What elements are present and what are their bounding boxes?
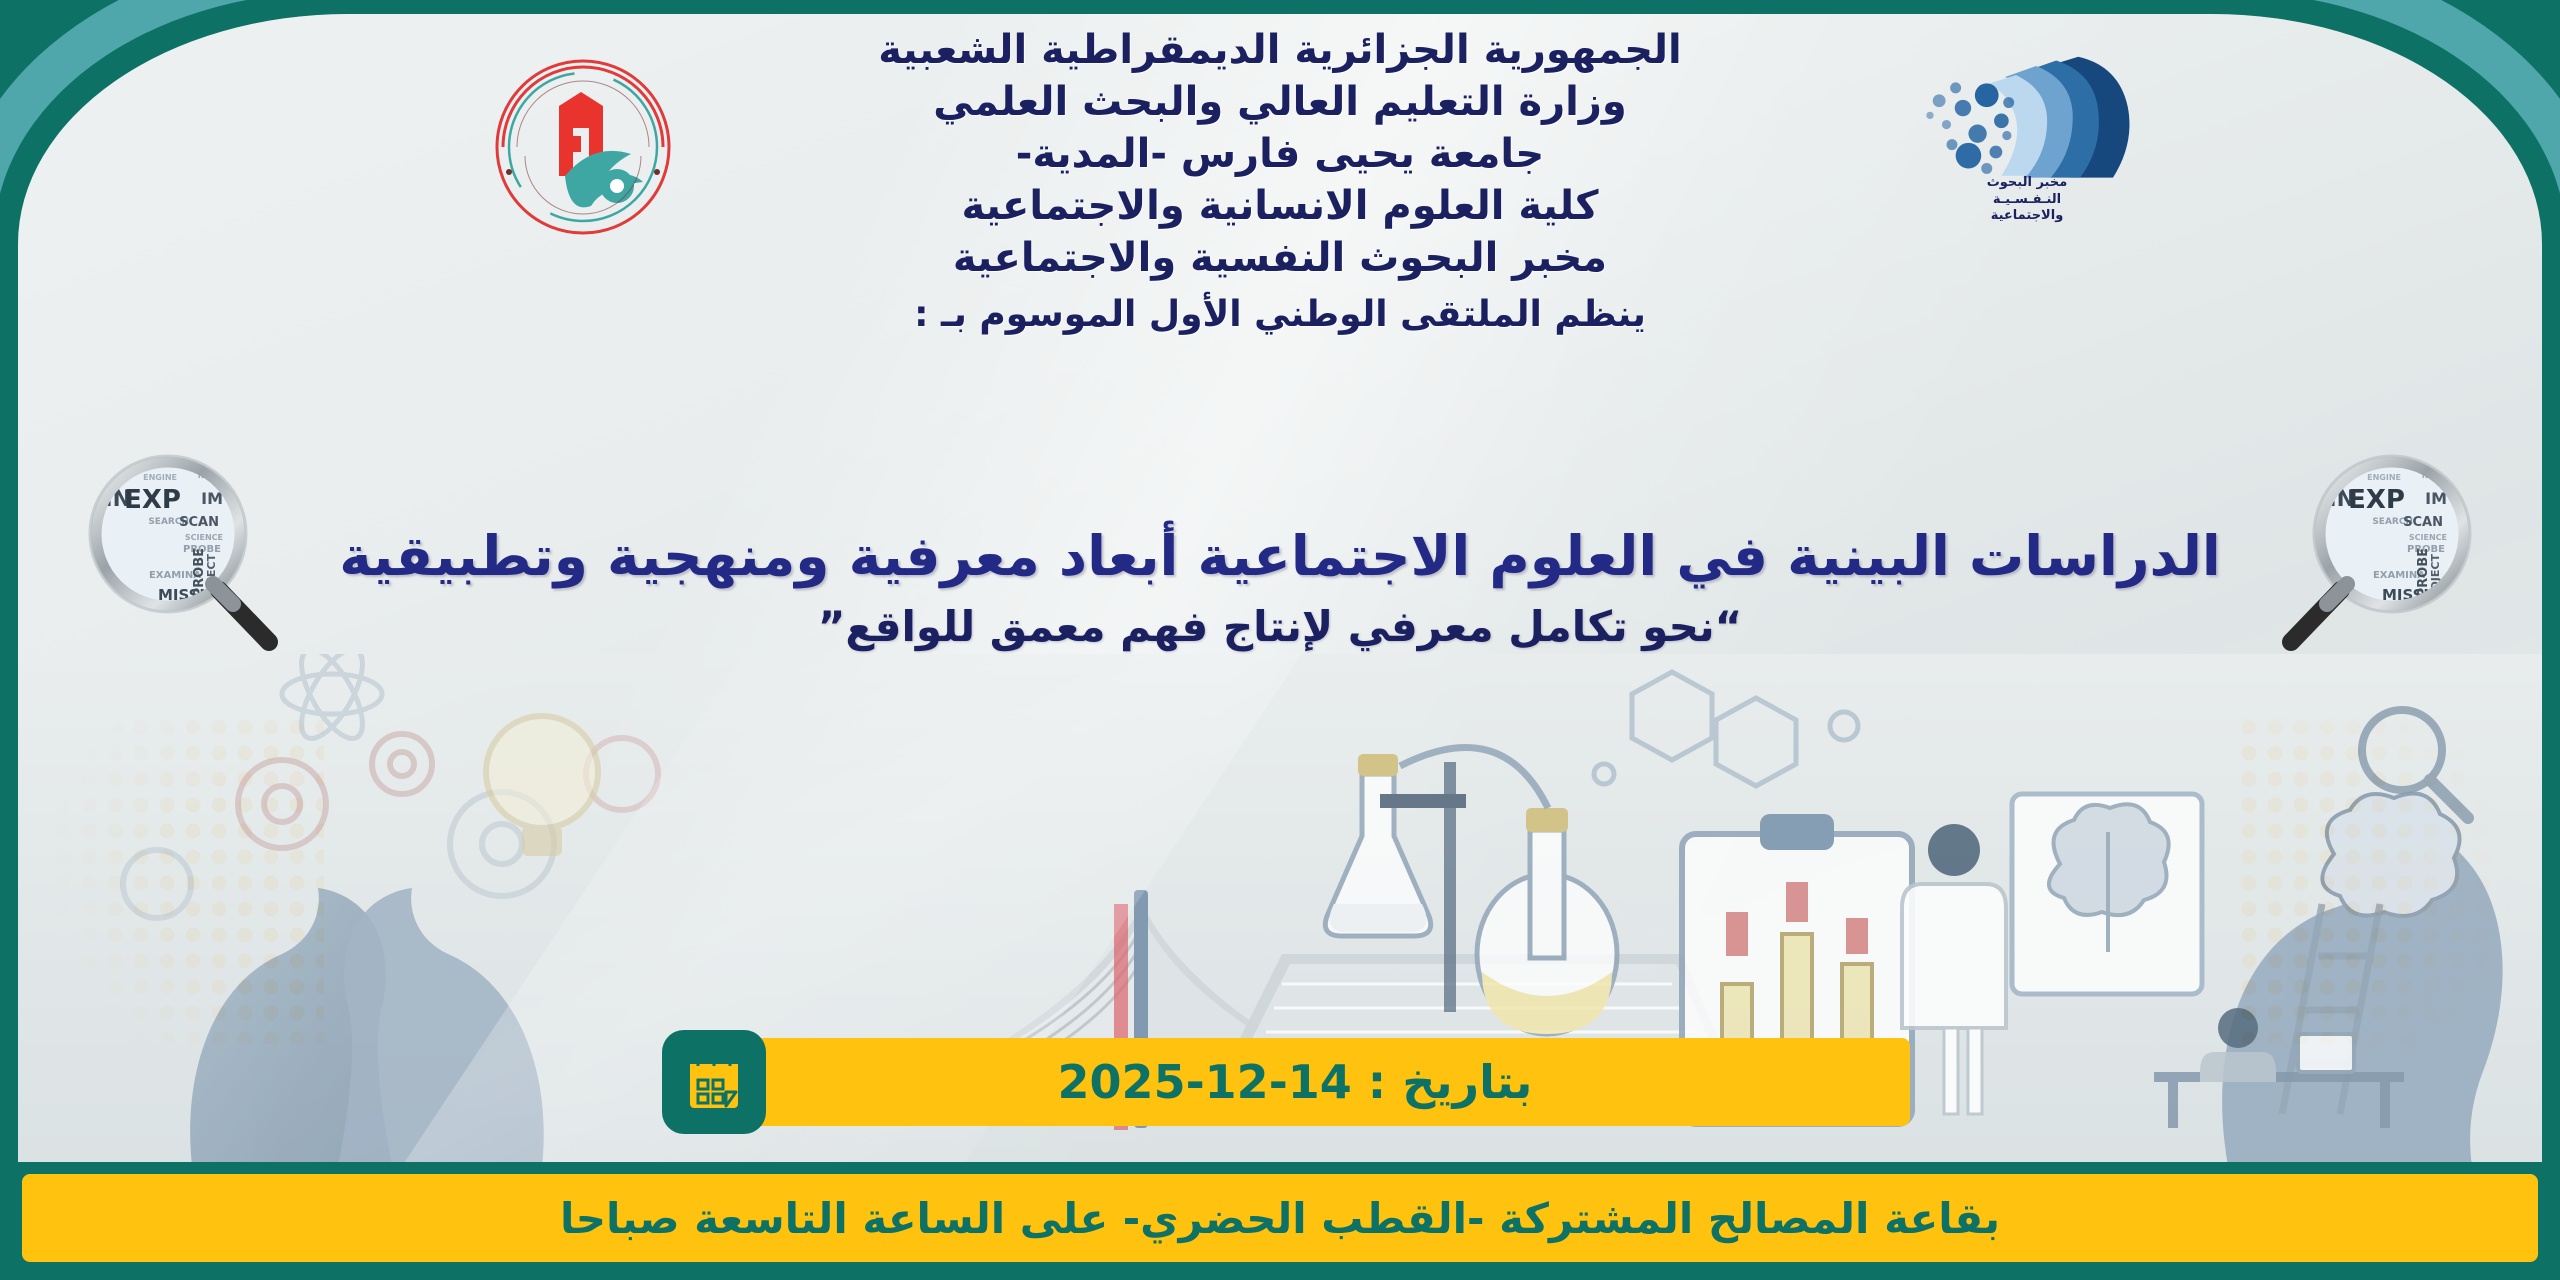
svg-text:SCAN: SCAN [2283, 588, 2317, 601]
lab-caption-line3: والاجتماعية [1987, 208, 2068, 224]
header-line-lab: مخبر البحوث النفسية والاجتماعية [18, 232, 2542, 284]
date-bar: بتاريخ : 14-12-2025 [680, 1038, 1910, 1126]
page-title: الدراسات البينية في العلوم الاجتماعية أب… [18, 524, 2542, 588]
laboratory-logo-svg [1887, 44, 2167, 181]
venue-text: بقاعة المصالح المشتركة -القطب الحضري- عل… [560, 1194, 2000, 1243]
calendar-icon [662, 1030, 766, 1134]
calendar-icon-svg [682, 1050, 746, 1114]
laboratory-logo: مخبر البحوث النـفـسـيـة والاجتماعية [1887, 44, 2167, 224]
lab-caption-line1: مخبر البحوث [1987, 175, 2068, 191]
brain-poster [2012, 794, 2202, 994]
poster-body: مخبر البحوث النـفـسـيـة والاجتماعية RE [18, 14, 2542, 1162]
header-line-organizes: ينظم الملتقى الوطني الأول الموسوم بـ : [18, 292, 2542, 339]
page-subtitle: “نحو تكامل معرفي لإنتاج فهم معمق للواقع” [18, 602, 2542, 651]
lab-caption-line2: النـفـسـيـة [1987, 192, 2068, 208]
university-logo-svg [473, 52, 693, 242]
conference-poster: مخبر البحوث النـفـسـيـة والاجتماعية RE [0, 0, 2560, 1280]
svg-text:ENGINE: ENGINE [143, 473, 177, 482]
venue-bar: بقاعة المصالح المشتركة -القطب الحضري- عل… [22, 1174, 2538, 1262]
lab-logo-caption: مخبر البحوث النـفـسـيـة والاجتماعية [1987, 175, 2068, 224]
svg-text:EXP: EXP [2348, 485, 2405, 515]
university-logo [473, 52, 693, 242]
svg-text:RESEARCH: RESEARCH [2272, 476, 2331, 487]
date-text: بتاريخ : 14-12-2025 [1058, 1055, 1533, 1109]
svg-text:EXP: EXP [124, 485, 181, 515]
bottom-strip [0, 1264, 2560, 1280]
svg-text:RESEARCH: RESEARCH [73, 476, 107, 487]
svg-text:SCAN: SCAN [73, 588, 93, 601]
svg-text:ENGINE: ENGINE [2367, 473, 2401, 482]
